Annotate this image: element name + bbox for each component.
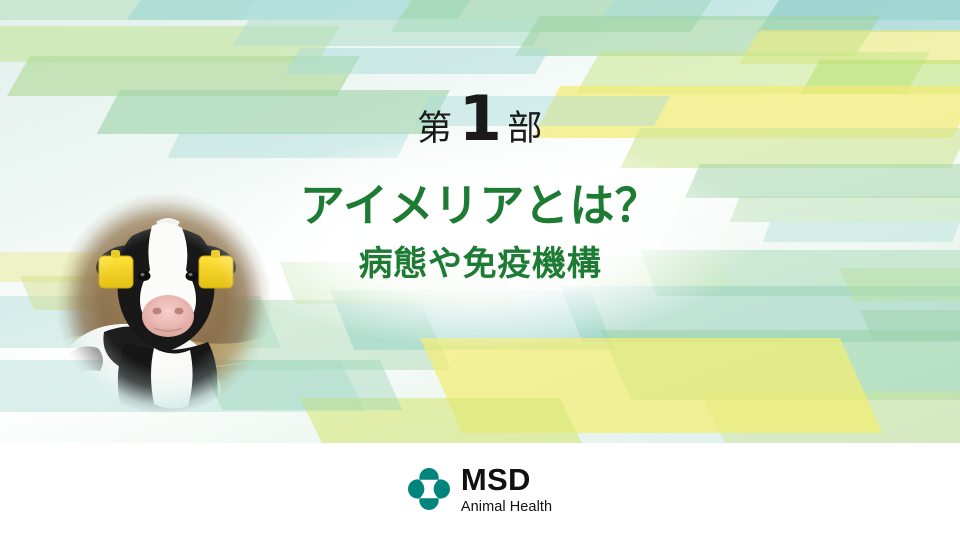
art-shard [520,256,731,286]
ear-tag-right [199,250,233,288]
art-shard [685,164,960,198]
msd-tagline: Animal Health [461,500,552,515]
msd-wordmark: MSD Animal Health [461,464,552,515]
art-shard [280,262,515,304]
art-shard [285,48,550,74]
art-shard [233,18,550,46]
art-shard [860,310,960,340]
art-shard [167,132,410,158]
msd-animal-health-logo: MSD Animal Health [0,443,960,539]
ear-tag-left [99,250,133,288]
art-shard [729,196,960,222]
art-shard [763,222,960,242]
slide-root: 第1部 アイメリアとは？ 病態や免疫機構 MSD Animal H [0,0,960,539]
msd-brand-name: MSD [461,464,531,495]
footer: MSD Animal Health [0,443,960,539]
msd-clover-icon [408,468,450,510]
calf-illustration [56,192,272,414]
art-shard [414,96,670,126]
art-shard [620,128,960,168]
calf-photo [56,192,272,414]
art-shard [840,268,960,302]
background-artwork [0,0,960,443]
art-shard [97,90,450,134]
